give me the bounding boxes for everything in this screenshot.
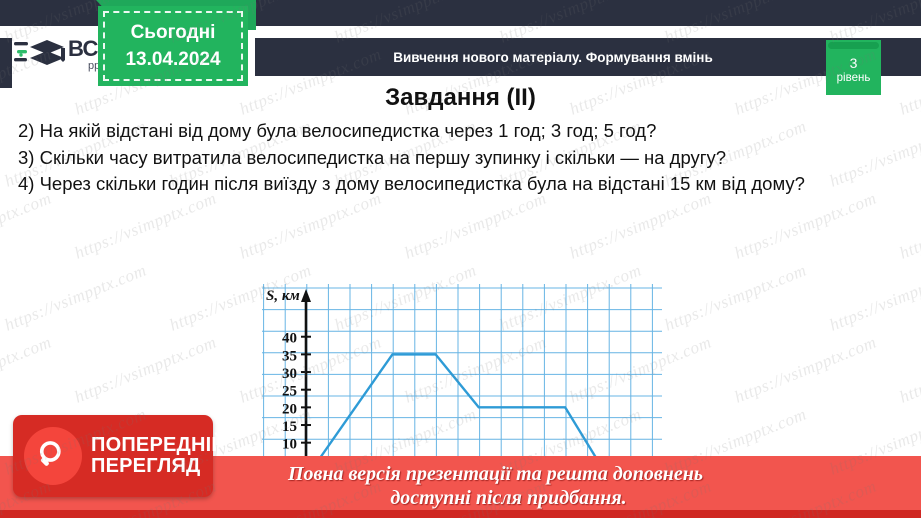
watermark-text: https://vsimpptx.com	[0, 188, 54, 263]
svg-text:30: 30	[282, 366, 297, 382]
today-date-box: Сьогодні 13.04.2024	[98, 6, 248, 86]
watermark-text: https://vsimpptx.com	[897, 188, 921, 263]
level-word: рівень	[837, 72, 871, 85]
svg-text:35: 35	[282, 348, 297, 364]
left-dark-block	[0, 0, 12, 88]
watermark-text: https://vsimpptx.com	[662, 260, 810, 335]
question-list: 2) На якій відстані від дому була велоси…	[18, 118, 908, 198]
preview-line-2: ПЕРЕГЛЯД	[91, 456, 226, 477]
header-bar: Вивчення нового матеріалу. Формування вм…	[255, 38, 921, 76]
today-label: Сьогодні	[131, 22, 216, 44]
watermark-text: https://vsimpptx.com	[72, 188, 220, 263]
watermark-text: https://vsimpptx.com	[72, 332, 220, 407]
watermark-text: https://vsimpptx.com	[402, 188, 550, 263]
magnifier-icon	[24, 427, 82, 485]
banner-line-2: доступні після придбання.	[294, 487, 626, 511]
banner-line-1: Повна версія презентації та решта доповн…	[218, 463, 703, 487]
question-item: 2) На якій відстані від дому була велоси…	[18, 118, 908, 144]
watermark-text: https://vsimpptx.com	[827, 260, 921, 335]
watermark-text: https://vsimpptx.com	[2, 260, 150, 335]
question-item: 3) Скільки часу витратила велосипедистка…	[18, 145, 908, 171]
watermark-text: https://vsimpptx.com	[567, 188, 715, 263]
graduation-cap-icon	[14, 34, 66, 76]
preview-line-1: ПОПЕРЕДНІЙ	[91, 435, 226, 456]
svg-text:20: 20	[282, 401, 297, 417]
question-item: 4) Через скільки годин після виїзду з до…	[18, 171, 908, 197]
preview-badge: ПОПЕРЕДНІЙ ПЕРЕГЛЯД	[13, 415, 213, 497]
today-date: 13.04.2024	[125, 49, 220, 71]
watermark-text: https://vsimpptx.com	[237, 188, 385, 263]
svg-text:40: 40	[282, 331, 297, 347]
slide-canvas: ВСІМ pptx Сьогодні 13.04.2024 Вивчення н…	[0, 0, 921, 518]
watermark-text: https://vsimpptx.com	[732, 332, 880, 407]
svg-text:15: 15	[282, 419, 297, 435]
watermark-text: https://vsimpptx.com	[0, 332, 54, 407]
header-title: Вивчення нового матеріалу. Формування вм…	[393, 50, 783, 65]
preview-label: ПОПЕРЕДНІЙ ПЕРЕГЛЯД	[91, 435, 226, 477]
svg-text:S, км: S, км	[266, 288, 300, 304]
watermark-text: https://vsimpptx.com	[897, 332, 921, 407]
svg-text:10: 10	[282, 437, 297, 453]
watermark-text: https://vsimpptx.com	[732, 188, 880, 263]
page-title: Завдання (II)	[0, 84, 921, 112]
svg-text:25: 25	[282, 384, 297, 400]
level-number: 3	[850, 56, 858, 71]
